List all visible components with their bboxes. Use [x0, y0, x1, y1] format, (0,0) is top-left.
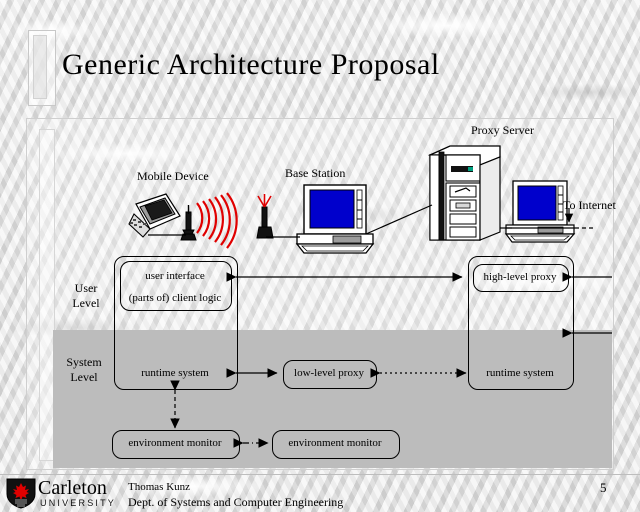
label-user-level-line2: Level — [64, 296, 108, 311]
label-proxy-server: Proxy Server — [471, 123, 534, 138]
title-accent-bar-inner — [33, 35, 47, 99]
label-to-internet: To Internet — [563, 198, 616, 213]
runtime-system-right-label: runtime system — [468, 367, 572, 379]
page-number: 5 — [600, 480, 607, 496]
label-system-level-line2: Level — [56, 370, 112, 385]
label-system-level: System Level — [56, 355, 112, 385]
logo-subtitle: UNIVERSITY — [40, 498, 116, 508]
page-title: Generic Architecture Proposal — [62, 48, 440, 82]
department-name: Dept. of Systems and Computer Engineerin… — [128, 495, 343, 510]
label-user-level: User Level — [64, 281, 108, 311]
logo-wordmark: Carleton — [38, 477, 107, 500]
label-user-level-line1: User — [64, 281, 108, 296]
environment-monitor-left-label: environment monitor — [112, 437, 238, 449]
high-level-proxy-label: high-level proxy — [473, 271, 567, 283]
environment-monitor-right-label: environment monitor — [272, 437, 398, 449]
carleton-shield-logo — [6, 478, 36, 509]
label-mobile-device: Mobile Device — [137, 169, 209, 184]
low-level-proxy-label: low-level proxy — [283, 367, 375, 379]
label-base-station: Base Station — [285, 166, 345, 181]
client-logic-label: (parts of) client logic — [116, 292, 234, 304]
label-system-level-line1: System — [56, 355, 112, 370]
author-name: Thomas Kunz — [128, 481, 190, 493]
runtime-system-left-label: runtime system — [114, 367, 236, 379]
slide-canvas: Generic Architecture Proposal — [0, 0, 640, 512]
user-interface-label: user interface — [120, 270, 230, 282]
footer-divider — [0, 474, 640, 475]
